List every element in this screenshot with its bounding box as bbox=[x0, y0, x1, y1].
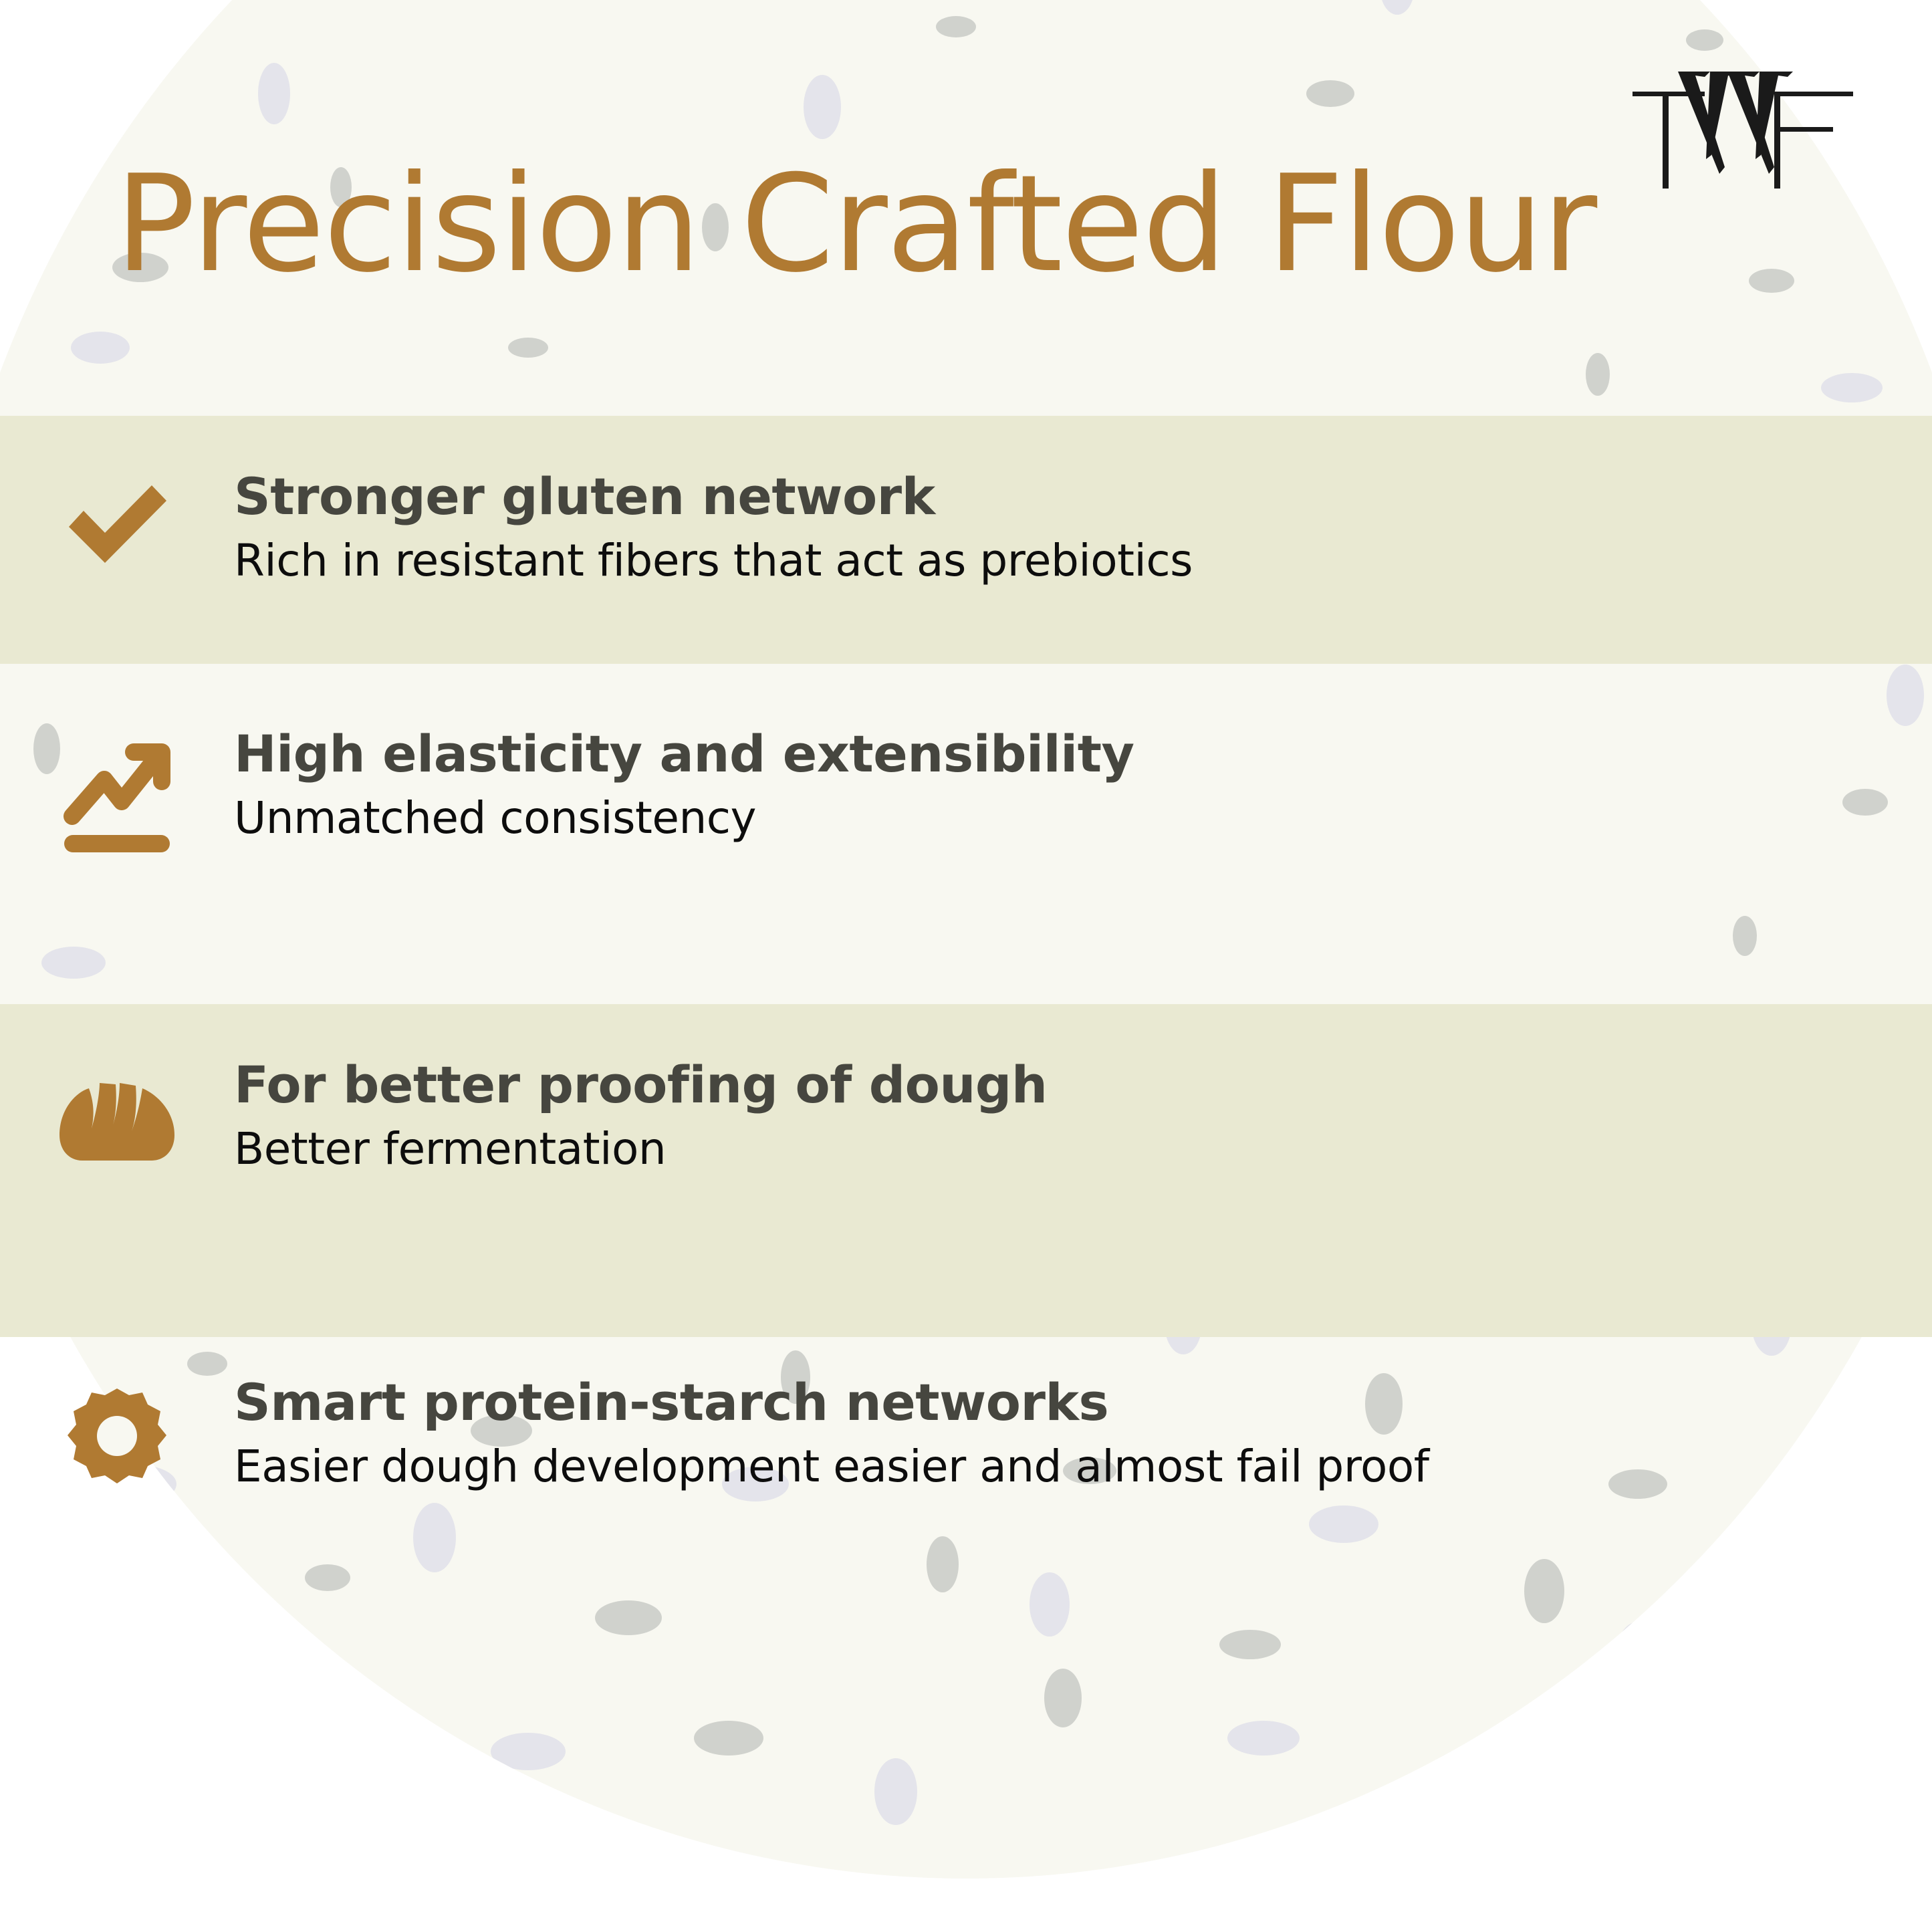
feature-row-1: Stronger gluten network Rich in resistan… bbox=[0, 468, 1932, 587]
feature-3-title: For better proofing of dough bbox=[234, 1056, 1047, 1113]
feature-1-title: Stronger gluten network bbox=[234, 468, 1193, 525]
page-title: Precision Crafted Flour bbox=[115, 158, 1596, 291]
feature-2-icon-cell bbox=[0, 725, 234, 854]
feature-2-text: High elasticity and extensibility Unmatc… bbox=[234, 725, 1134, 844]
feature-1-text: Stronger gluten network Rich in resistan… bbox=[234, 468, 1193, 587]
feature-4-title: Smart protein-starch networks bbox=[234, 1374, 1429, 1431]
twf-monogram-icon bbox=[1626, 55, 1860, 195]
feature-3-subtitle: Better fermentation bbox=[234, 1124, 1047, 1175]
feature-row-3: For better proofing of dough Better ferm… bbox=[0, 1056, 1932, 1175]
feature-row-4: Smart protein-starch networks Easier dou… bbox=[0, 1374, 1932, 1493]
feature-4-text: Smart protein-starch networks Easier dou… bbox=[234, 1374, 1429, 1493]
bread-loaf-icon bbox=[50, 1068, 184, 1169]
feature-4-icon-cell bbox=[0, 1374, 234, 1493]
feature-2-title: High elasticity and extensibility bbox=[234, 725, 1134, 782]
feature-3-icon-cell bbox=[0, 1056, 234, 1169]
feature-1-icon-cell bbox=[0, 468, 234, 567]
gear-icon bbox=[64, 1386, 170, 1493]
feature-3-text: For better proofing of dough Better ferm… bbox=[234, 1056, 1047, 1175]
twf-logo bbox=[1626, 55, 1860, 195]
poster-canvas: Precision Crafted Flour bbox=[0, 0, 1932, 1932]
feature-2-subtitle: Unmatched consistency bbox=[234, 793, 1134, 844]
feature-row-2: High elasticity and extensibility Unmatc… bbox=[0, 725, 1932, 854]
feature-1-subtitle: Rich in resistant fibers that act as pre… bbox=[234, 535, 1193, 587]
trending-up-icon bbox=[60, 737, 174, 854]
check-icon bbox=[64, 480, 170, 567]
feature-4-subtitle: Easier dough development easier and almo… bbox=[234, 1441, 1429, 1493]
